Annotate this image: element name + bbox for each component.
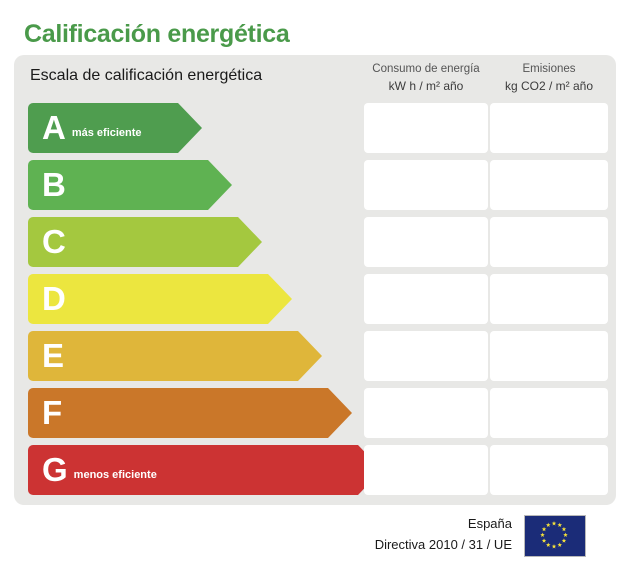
consumo-value-d (364, 274, 488, 324)
emisiones-value-e (490, 331, 608, 381)
rating-band-arrow-tip (208, 160, 232, 210)
rating-band-f: F (28, 388, 328, 438)
rating-row: E (14, 331, 616, 381)
column-header-emisiones-line2: kg CO2 / m² año (490, 78, 608, 95)
footer: España Directiva 2010 / 31 / UE (0, 513, 616, 557)
rating-panel: Escala de calificación energética Consum… (14, 55, 616, 505)
scale-heading: Escala de calificación energética (30, 67, 262, 85)
rating-band-g: Gmenos eficiente (28, 445, 358, 495)
emisiones-value-d (490, 274, 608, 324)
emisiones-value-b (490, 160, 608, 210)
rating-band-e: E (28, 331, 298, 381)
rating-row: C (14, 217, 616, 267)
consumo-value-e (364, 331, 488, 381)
rating-note-a: más eficiente (72, 127, 142, 139)
rating-letter-c: C (42, 225, 66, 258)
footer-directive: Directiva 2010 / 31 / UE (375, 534, 512, 555)
rating-band-arrow-tip (268, 274, 292, 324)
rating-letter-f: F (42, 396, 62, 429)
emisiones-value-a (490, 103, 608, 153)
consumo-value-f (364, 388, 488, 438)
rating-band-b: B (28, 160, 208, 210)
rating-band-arrow-tip (328, 388, 352, 438)
rating-letter-e: E (42, 339, 64, 372)
column-header-emisiones-line1: Emisiones (490, 61, 608, 78)
rating-letter-a: A (42, 111, 66, 144)
emisiones-value-c (490, 217, 608, 267)
emisiones-value-f (490, 388, 608, 438)
consumo-value-a (364, 103, 488, 153)
consumo-value-c (364, 217, 488, 267)
footer-country: España (375, 513, 512, 534)
page-title: Calificación energética (24, 20, 289, 49)
energy-rating-certificate: Calificación energética Escala de califi… (0, 0, 630, 562)
rating-row: F (14, 388, 616, 438)
footer-text: España Directiva 2010 / 31 / UE (375, 513, 512, 555)
rating-band-arrow-tip (178, 103, 202, 153)
column-header-consumo: Consumo de energía kW h / m² año (364, 61, 488, 95)
column-header-consumo-line1: Consumo de energía (364, 61, 488, 78)
rating-band-d: D (28, 274, 268, 324)
emisiones-value-g (490, 445, 608, 495)
column-header-emisiones: Emisiones kg CO2 / m² año (490, 61, 608, 95)
consumo-value-b (364, 160, 488, 210)
rating-band-c: C (28, 217, 238, 267)
rating-row: Amás eficiente (14, 103, 616, 153)
column-header-consumo-line2: kW h / m² año (364, 78, 488, 95)
rating-row: D (14, 274, 616, 324)
consumo-value-g (364, 445, 488, 495)
rating-row: Gmenos eficiente (14, 445, 616, 495)
rating-letter-g: G (42, 453, 68, 486)
rating-row: B (14, 160, 616, 210)
rating-band-arrow-tip (298, 331, 322, 381)
rating-letter-d: D (42, 282, 66, 315)
rating-letter-b: B (42, 168, 66, 201)
rating-band-a: Amás eficiente (28, 103, 178, 153)
rating-note-g: menos eficiente (74, 469, 157, 481)
eu-flag-icon (524, 515, 586, 557)
rating-rows: Amás eficienteBCDEFGmenos eficiente (14, 103, 616, 502)
rating-band-arrow-tip (238, 217, 262, 267)
